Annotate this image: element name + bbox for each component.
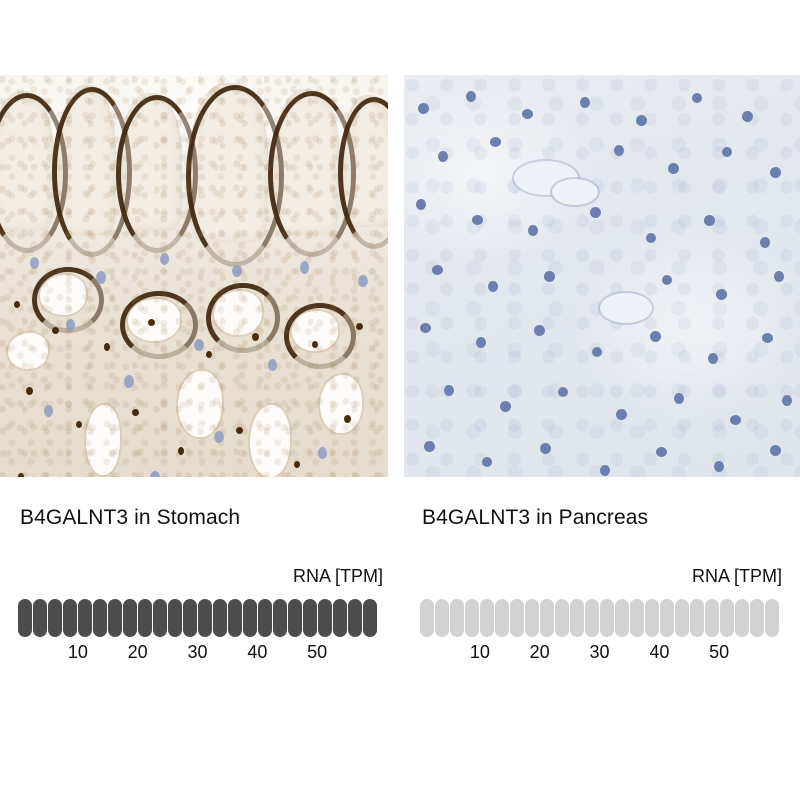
rna-axis-tick: 50 <box>307 642 327 663</box>
rna-axis-tick: 40 <box>649 642 669 663</box>
nucleus <box>482 457 492 467</box>
rna-bar-segment <box>363 599 377 637</box>
nucleus <box>420 323 431 333</box>
nucleus <box>44 405 53 417</box>
rna-bar-segment <box>615 599 629 637</box>
dab-granule <box>252 333 259 341</box>
rna-bar-segment <box>258 599 272 637</box>
rna-bar-segment <box>765 599 779 637</box>
rna-bar-segment <box>288 599 302 637</box>
nucleus <box>704 215 715 226</box>
rna-bar-segment <box>348 599 362 637</box>
rna-bar-segment <box>123 599 137 637</box>
nucleus <box>418 103 429 114</box>
pancreas-tissue-image <box>404 75 800 477</box>
rna-bar-segment <box>540 599 554 637</box>
rna-bar-segment <box>213 599 227 637</box>
nucleus <box>466 91 476 102</box>
rna-bar-segment <box>450 599 464 637</box>
rna-bar-segment <box>435 599 449 637</box>
nucleus <box>438 151 448 162</box>
ihc-figure: B4GALNT3 in Stomach B4GALNT3 in Pancreas… <box>0 0 800 800</box>
nucleus <box>762 333 773 343</box>
dab-granule <box>14 301 20 308</box>
dab-granule <box>312 341 318 348</box>
rna-axis-tick: 20 <box>128 642 148 663</box>
rna-axis-tick: 40 <box>247 642 267 663</box>
dab-granule <box>236 427 243 434</box>
dab-granule <box>206 351 212 358</box>
nucleus <box>708 353 718 364</box>
rna-axis-tick: 10 <box>68 642 88 663</box>
rna-axis-tick: 10 <box>470 642 490 663</box>
nucleus <box>590 207 601 218</box>
nucleus <box>124 375 134 388</box>
nucleus <box>528 225 538 236</box>
nucleus <box>522 109 533 119</box>
rna-bar-segment <box>33 599 47 637</box>
rna-bar-segment <box>630 599 644 637</box>
rna-bar-segment <box>138 599 152 637</box>
nucleus <box>592 347 602 357</box>
nucleus <box>760 237 770 248</box>
dab-granule <box>132 409 139 416</box>
rna-bar-segment <box>570 599 584 637</box>
nucleus <box>730 415 741 425</box>
vessel-lumen <box>552 179 598 205</box>
nucleus <box>668 163 679 174</box>
rna-bar-segment <box>18 599 32 637</box>
nucleus <box>656 447 667 457</box>
rna-bar-segment <box>63 599 77 637</box>
rna-bar-segment <box>243 599 257 637</box>
rna-bar-segment <box>720 599 734 637</box>
caption-pancreas: B4GALNT3 in Pancreas <box>422 506 648 530</box>
nucleus <box>636 115 647 126</box>
nucleus <box>318 447 327 459</box>
nucleus <box>770 445 781 456</box>
nucleus <box>716 289 727 300</box>
dab-granule <box>178 447 184 455</box>
micrograph-pancreas[interactable] <box>404 75 800 477</box>
rna-axis-tick: 50 <box>709 642 729 663</box>
nucleus <box>232 265 242 277</box>
nucleus <box>476 337 486 348</box>
rna-bar-segment <box>93 599 107 637</box>
rna-bar-segment <box>690 599 704 637</box>
dab-granule <box>76 421 82 428</box>
nucleus <box>424 441 435 452</box>
nucleus <box>416 199 426 210</box>
dab-granule <box>356 323 363 330</box>
nucleus <box>646 233 656 243</box>
nucleus <box>692 93 702 103</box>
nucleus <box>674 393 684 404</box>
nucleus <box>500 401 511 412</box>
rna-axis-ticks-pancreas: 1020304050 <box>420 642 779 664</box>
nucleus <box>600 465 610 476</box>
rna-axis-tick: 30 <box>187 642 207 663</box>
nucleus <box>534 325 545 336</box>
nucleus <box>358 275 368 287</box>
nucleus <box>614 145 624 156</box>
nucleus <box>488 281 498 292</box>
rna-bar-track-stomach[interactable] <box>18 599 377 637</box>
dab-granule <box>18 473 24 477</box>
nucleus <box>432 265 443 275</box>
rna-bar-segment <box>183 599 197 637</box>
rna-bar-segment <box>660 599 674 637</box>
nucleus <box>472 215 483 225</box>
rna-bar-segment <box>735 599 749 637</box>
nucleus <box>490 137 501 147</box>
rna-bar-segment <box>645 599 659 637</box>
nucleus <box>150 471 160 477</box>
stomach-tissue-image <box>0 75 388 477</box>
nucleus <box>580 97 590 108</box>
nucleus <box>300 261 309 274</box>
rna-bar-segment <box>585 599 599 637</box>
rna-bar-segment <box>198 599 212 637</box>
rna-bar-segment <box>480 599 494 637</box>
rna-bar-segment <box>228 599 242 637</box>
dab-granule <box>26 387 33 395</box>
rna-bar-segment <box>318 599 332 637</box>
dab-granule <box>148 319 155 326</box>
rna-bar-segment <box>420 599 434 637</box>
nucleus <box>214 431 224 443</box>
rna-bar-segment <box>510 599 524 637</box>
nucleus <box>714 461 724 472</box>
nucleus <box>66 319 75 331</box>
nucleus <box>268 359 277 371</box>
nucleus <box>444 385 454 396</box>
caption-stomach: B4GALNT3 in Stomach <box>20 506 240 530</box>
rna-axis-tick: 20 <box>530 642 550 663</box>
nucleus <box>96 271 106 284</box>
nucleus <box>558 387 568 397</box>
nucleus <box>722 147 732 157</box>
nucleus <box>650 331 661 342</box>
rna-bar-segment <box>600 599 614 637</box>
rna-bar-segment <box>153 599 167 637</box>
nucleus <box>742 111 753 122</box>
rna-bar-segment <box>525 599 539 637</box>
rna-bar-segment <box>675 599 689 637</box>
rna-tpm-label: RNA [TPM] <box>605 566 782 587</box>
stomach-dab-granularity <box>0 75 388 477</box>
nucleus <box>782 395 792 406</box>
rna-bar-segment <box>303 599 317 637</box>
rna-bar-segment <box>495 599 509 637</box>
rna-bar-segment <box>555 599 569 637</box>
nucleus <box>770 167 781 178</box>
dab-granule <box>52 327 59 334</box>
rna-bar-segment <box>168 599 182 637</box>
rna-bar-segment <box>48 599 62 637</box>
nucleus <box>616 409 627 420</box>
rna-bar-segment <box>705 599 719 637</box>
dab-granule <box>294 461 300 468</box>
micrograph-stomach[interactable] <box>0 75 388 477</box>
nucleus <box>30 257 39 269</box>
rna-bar-segment <box>78 599 92 637</box>
dab-granule <box>344 415 351 423</box>
rna-bar-segment <box>273 599 287 637</box>
nucleus <box>160 253 169 265</box>
nucleus <box>662 275 672 285</box>
rna-bar-segment <box>750 599 764 637</box>
rna-axis-ticks-stomach: 1020304050 <box>18 642 377 664</box>
vessel-lumen <box>600 293 652 323</box>
rna-axis-tick: 30 <box>589 642 609 663</box>
rna-tpm-label: RNA [TPM] <box>206 566 383 587</box>
nucleus <box>544 271 555 282</box>
dab-granule <box>104 343 110 351</box>
nucleus <box>774 271 784 282</box>
pancreas-acinar-texture <box>404 75 800 477</box>
nucleus <box>194 339 204 351</box>
rna-bar-segment <box>465 599 479 637</box>
rna-bar-segment <box>108 599 122 637</box>
rna-bar-segment <box>333 599 347 637</box>
rna-bar-track-pancreas[interactable] <box>420 599 779 637</box>
nucleus <box>540 443 551 454</box>
